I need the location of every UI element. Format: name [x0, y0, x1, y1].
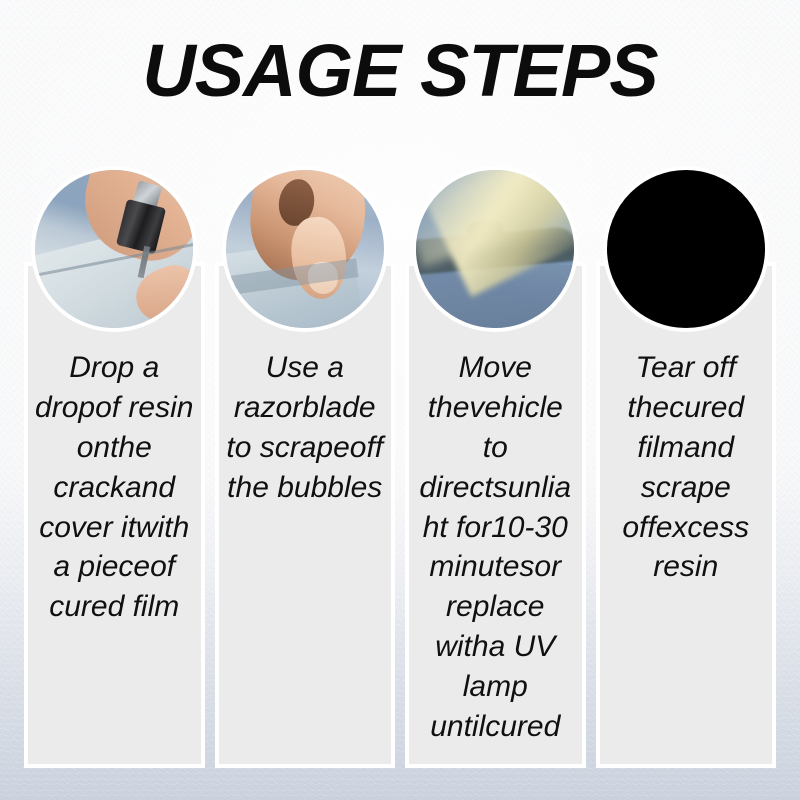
step-photo-slot-3 [405, 166, 586, 346]
fingers-placing-film-photo[interactable] [222, 166, 388, 332]
infographic-page: USAGE STEPS [0, 0, 800, 800]
step-description-3: Move thevehicle to directsunliaht for10-… [409, 348, 582, 747]
step-card-3[interactable]: Move thevehicle to directsunliaht for10-… [405, 262, 586, 768]
step-card-4[interactable]: Tear off thecured filmand scrape offexce… [596, 262, 777, 768]
page-title: USAGE STEPS [0, 34, 800, 108]
step-card-row: Drop a dropof resin onthe crackand cover… [24, 262, 776, 768]
step-description-4: Tear off thecured filmand scrape offexce… [600, 348, 773, 587]
step-photo-slot-1 [24, 166, 205, 346]
step-description-1: Drop a dropof resin onthe crackand cover… [28, 348, 201, 627]
resin-applicator-on-crack-photo[interactable] [31, 166, 197, 332]
step-card-2[interactable]: Use a razorblade to scrapeoff the bubble… [215, 262, 396, 768]
windshield-in-sunlight-photo[interactable] [412, 166, 578, 332]
step-description-2: Use a razorblade to scrapeoff the bubble… [219, 348, 392, 508]
step-card-1[interactable]: Drop a dropof resin onthe crackand cover… [24, 262, 205, 768]
peel-cured-film-photo[interactable] [603, 166, 769, 332]
